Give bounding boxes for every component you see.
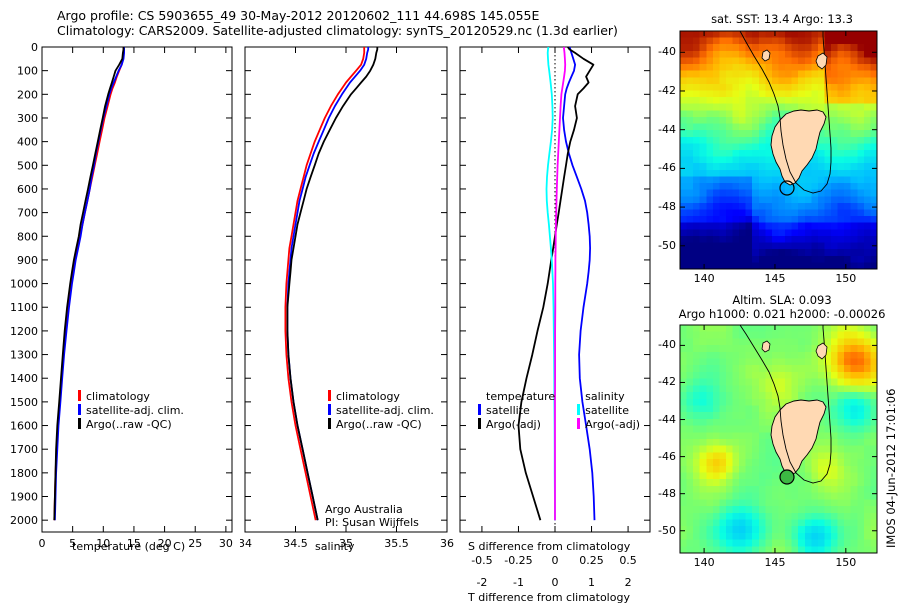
- legend-label-temp-argo: Argo(-adj): [486, 418, 541, 431]
- sla-map-title-line1: Altim. SLA: 0.093: [672, 293, 892, 307]
- svg-text:34.5: 34.5: [283, 537, 308, 550]
- svg-text:500: 500: [17, 159, 38, 172]
- map-tick-label: -50: [658, 524, 676, 537]
- map-tick-label: -46: [658, 161, 676, 174]
- salinity-legend: climatology satellite-adj. clim. Argo(..…: [328, 390, 434, 432]
- svg-text:25: 25: [188, 537, 202, 550]
- credit-org: Argo Australia: [325, 503, 403, 516]
- svg-text:1000: 1000: [10, 278, 38, 291]
- map-tick-label: -42: [658, 84, 676, 97]
- svg-text:34: 34: [240, 537, 252, 550]
- tick-label: 145: [764, 556, 785, 569]
- svg-text:1100: 1100: [10, 301, 38, 314]
- svg-text:800: 800: [17, 230, 38, 243]
- tick-label: 0.5: [619, 554, 637, 567]
- tick-label: 0: [552, 576, 559, 589]
- map-tick-label: -40: [658, 45, 676, 58]
- svg-text:300: 300: [17, 112, 38, 125]
- map-tick-label: -42: [658, 375, 676, 388]
- legend-item-temp-argo: Argo(-adj): [478, 418, 555, 432]
- svg-text:1600: 1600: [10, 420, 38, 433]
- legend-swatch-temp-argo: [478, 418, 481, 429]
- svg-text:0: 0: [39, 537, 46, 550]
- tick-label: -1: [513, 576, 524, 589]
- legend-label-satellite-clim-s: satellite-adj. clim.: [336, 404, 434, 417]
- svg-text:36: 36: [440, 537, 454, 550]
- legend-swatch-satellite-clim-s: [328, 404, 331, 415]
- tick-label: 140: [694, 556, 715, 569]
- tick-label: -2: [476, 576, 487, 589]
- legend-label-climatology: climatology: [86, 390, 150, 403]
- svg-text:35.5: 35.5: [384, 537, 409, 550]
- map-tick-label: -44: [658, 413, 676, 426]
- svg-text:1200: 1200: [10, 325, 38, 338]
- difference-top-tick-labels: -0.5-0.2500.250.5: [455, 554, 665, 568]
- temperature-legend: climatology satellite-adj. clim. Argo(..…: [78, 390, 184, 432]
- legend-swatch-temp-satellite: [478, 404, 481, 415]
- svg-text:900: 900: [17, 254, 38, 267]
- tick-label: 150: [835, 272, 856, 285]
- legend-label-sal-satellite: satellite: [585, 404, 629, 417]
- difference-bottom-tick-labels: -2-1012: [455, 576, 665, 590]
- legend-item-satellite-clim-s: satellite-adj. clim.: [328, 404, 434, 418]
- map-tick-label: -40: [658, 338, 676, 351]
- sla-map-x-tick-labels: 140145150: [668, 556, 898, 570]
- sst-map-title: sat. SST: 13.4 Argo: 13.3: [672, 12, 892, 26]
- imos-timestamp: IMOS 04-Jun-2012 17:01:06: [884, 389, 898, 548]
- salinity-panel: 3434.53535.536 salinity: [240, 40, 455, 580]
- legend-label-argo-raw-s: Argo(..raw -QC): [336, 418, 422, 431]
- plot-title-line1: Argo profile: CS 5903655_49 30-May-2012 …: [57, 8, 539, 23]
- svg-text:1700: 1700: [10, 443, 38, 456]
- svg-text:30: 30: [219, 537, 233, 550]
- difference-plot-svg: [455, 40, 665, 580]
- legend-header-salinity: salinity: [577, 390, 640, 404]
- tick-label: 1: [588, 576, 595, 589]
- svg-text:200: 200: [17, 88, 38, 101]
- legend-swatch-climatology: [78, 390, 81, 401]
- map-tick-label: -44: [658, 123, 676, 136]
- difference-s-axis-label: S difference from climatology: [468, 540, 630, 553]
- svg-text:400: 400: [17, 136, 38, 149]
- legend-item-argo-raw-s: Argo(..raw -QC): [328, 418, 434, 432]
- temperature-plot-svg: 0100200300400500600700800900100011001200…: [0, 40, 240, 580]
- svg-text:700: 700: [17, 207, 38, 220]
- tick-label: -0.25: [504, 554, 532, 567]
- difference-legend-salinity-group: salinity satellite Argo(-adj): [577, 390, 640, 432]
- tick-label: 150: [835, 556, 856, 569]
- salinity-plot-svg: 3434.53535.536: [240, 40, 455, 580]
- tick-label: 0: [552, 554, 559, 567]
- svg-text:1800: 1800: [10, 467, 38, 480]
- legend-label-temp-satellite: satellite: [486, 404, 530, 417]
- tick-label: 140: [694, 272, 715, 285]
- tick-label: 0.25: [579, 554, 604, 567]
- tick-label: 2: [625, 576, 632, 589]
- legend-swatch-argo-raw-s: [328, 418, 331, 429]
- svg-text:1400: 1400: [10, 372, 38, 385]
- sst-map: 140145150 -40-42-44-46-48-50: [668, 28, 898, 290]
- legend-swatch-argo-raw: [78, 418, 81, 429]
- svg-text:600: 600: [17, 183, 38, 196]
- svg-text:1500: 1500: [10, 396, 38, 409]
- map-tick-label: -48: [658, 200, 676, 213]
- sst-map-x-tick-labels: 140145150: [668, 272, 898, 286]
- sst-map-y-tick-labels: -40-42-44-46-48-50: [668, 28, 898, 273]
- map-tick-label: -46: [658, 450, 676, 463]
- legend-swatch-sal-argo: [577, 418, 580, 429]
- tick-label: -0.5: [471, 554, 492, 567]
- temperature-y-tick-labels: 0100200300400500600700800900100011001200…: [10, 41, 38, 527]
- plot-title-line2: Climatology: CARS2009. Satellite-adjuste…: [57, 23, 618, 38]
- difference-t-axis-label: T difference from climatology: [468, 591, 630, 604]
- svg-text:0: 0: [31, 41, 38, 54]
- sla-map-title-line2: Argo h1000: 0.021 h2000: -0.00026: [662, 307, 900, 321]
- legend-swatch-climatology-s: [328, 390, 331, 401]
- legend-item-temp-satellite: satellite: [478, 404, 555, 418]
- sla-map-y-tick-labels: -40-42-44-46-48-50: [668, 322, 898, 557]
- map-tick-label: -48: [658, 487, 676, 500]
- legend-item-climatology-s: climatology: [328, 390, 434, 404]
- legend-item-climatology: climatology: [78, 390, 184, 404]
- difference-legend-temperature-group: temperature satellite Argo(-adj): [478, 390, 555, 432]
- svg-text:1300: 1300: [10, 349, 38, 362]
- svg-text:2000: 2000: [10, 514, 38, 527]
- legend-label-sal-argo: Argo(-adj): [585, 418, 640, 431]
- map-tick-label: -50: [658, 239, 676, 252]
- legend-item-sal-argo: Argo(-adj): [577, 418, 640, 432]
- legend-item-satellite-clim: satellite-adj. clim.: [78, 404, 184, 418]
- difference-legend: temperature satellite Argo(-adj) salinit…: [478, 390, 640, 432]
- sla-map: 140145150 -40-42-44-46-48-50: [668, 322, 898, 574]
- tick-label: 145: [764, 272, 785, 285]
- svg-text:100: 100: [17, 65, 38, 78]
- legend-swatch-sal-satellite: [577, 404, 580, 415]
- legend-header-temperature: temperature: [478, 390, 555, 404]
- temperature-panel: 0100200300400500600700800900100011001200…: [0, 40, 240, 580]
- legend-label-argo-raw: Argo(..raw -QC): [86, 418, 172, 431]
- svg-text:1900: 1900: [10, 491, 38, 504]
- legend-swatch-satellite-clim: [78, 404, 81, 415]
- legend-item-argo-raw: Argo(..raw -QC): [78, 418, 184, 432]
- legend-label-climatology-s: climatology: [336, 390, 400, 403]
- legend-label-satellite-clim: satellite-adj. clim.: [86, 404, 184, 417]
- temperature-x-axis-label: temperature (deg C): [72, 540, 185, 553]
- credit-pi: PI: Susan Wijffels: [325, 516, 419, 529]
- legend-item-sal-satellite: satellite: [577, 404, 640, 418]
- salinity-x-axis-label: salinity: [315, 540, 354, 553]
- difference-panel: S difference from climatology -0.5-0.250…: [455, 40, 665, 580]
